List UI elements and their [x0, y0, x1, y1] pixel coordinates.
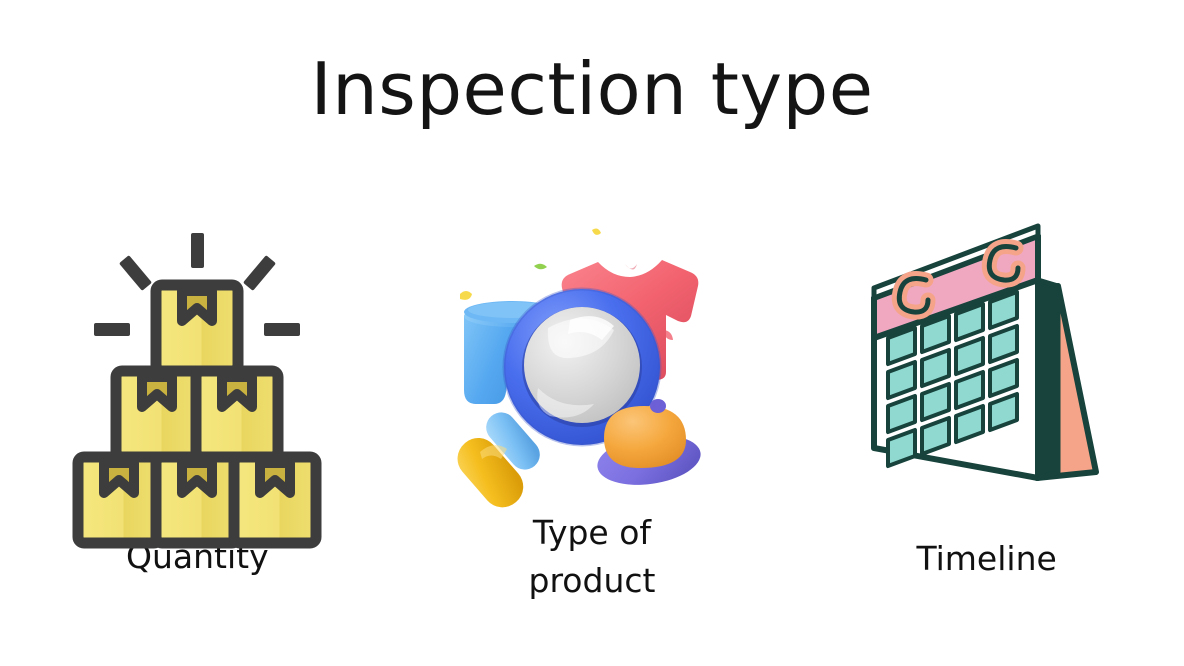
box-top — [156, 285, 238, 371]
slide-canvas: Inspection type — [0, 0, 1184, 666]
inspection-type-card-row: Quantity — [0, 215, 1184, 635]
card-quantity[interactable]: Quantity — [17, 215, 377, 581]
card-label-timeline: Timeline — [916, 535, 1056, 583]
box-middle-right — [196, 371, 278, 457]
apparel-magnifier-icon — [442, 220, 742, 510]
card-label-type-of-product: Type of product — [512, 509, 672, 605]
box-bottom-right — [234, 457, 316, 543]
card-timeline[interactable]: Timeline — [807, 215, 1167, 583]
page-title: Inspection type — [0, 52, 1184, 128]
card-type-of-product[interactable]: Type of product — [412, 215, 772, 605]
quantity-icon-wrap — [47, 215, 347, 515]
type-of-product-icon-wrap — [442, 215, 742, 515]
desk-calendar-icon — [862, 220, 1112, 510]
box-bottom-center — [156, 457, 238, 543]
timeline-icon-wrap — [837, 215, 1137, 515]
box-bottom-left — [78, 457, 160, 543]
stacked-boxes-icon — [72, 225, 322, 505]
box-middle-left — [116, 371, 198, 457]
